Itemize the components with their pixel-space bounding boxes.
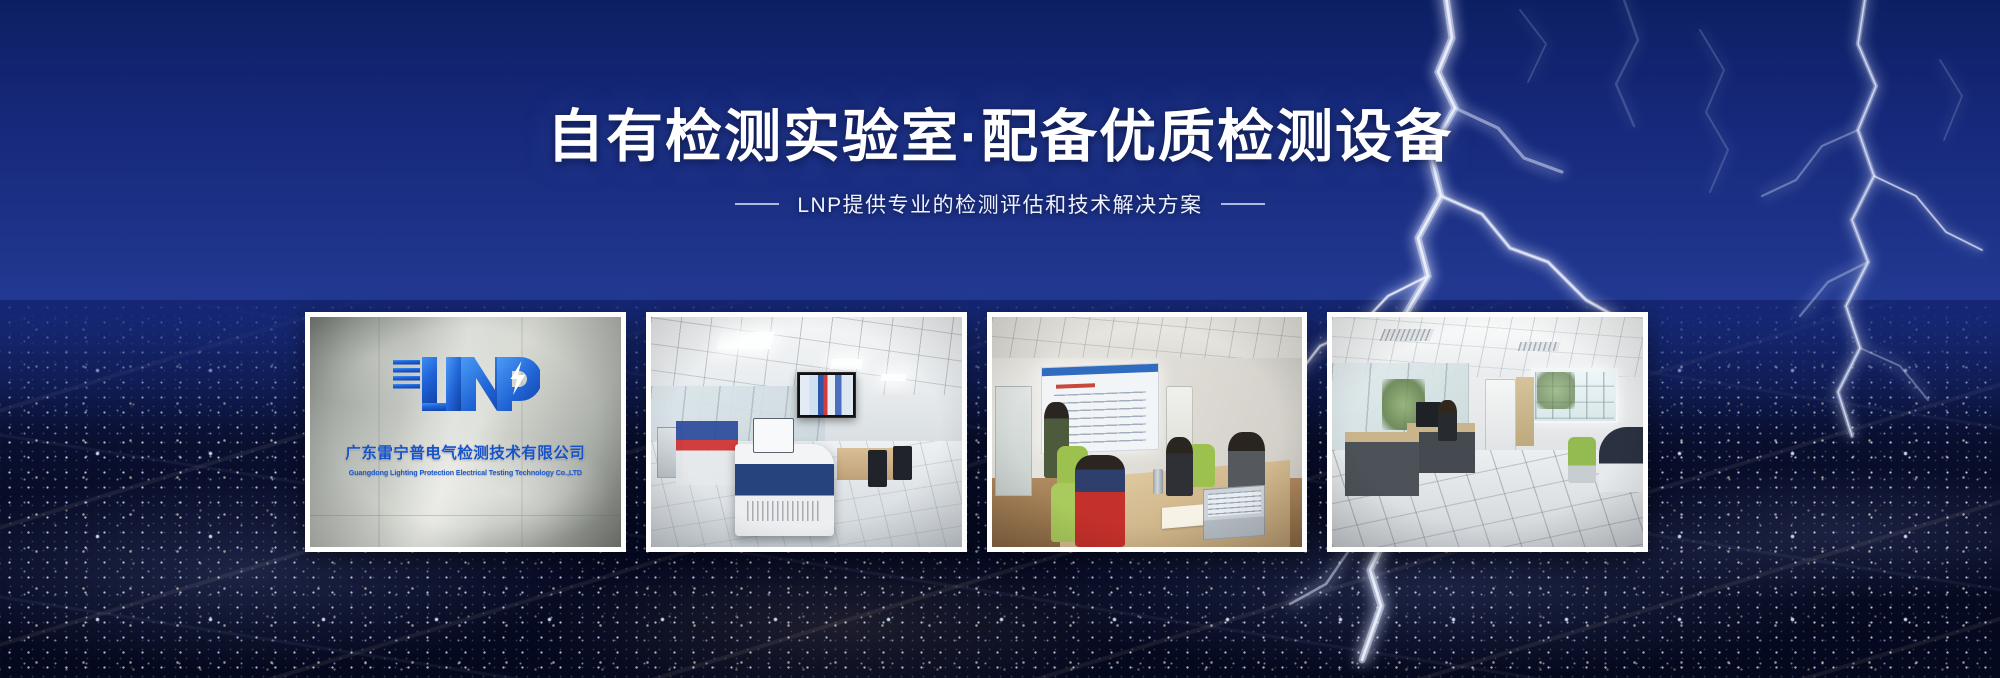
- rule-left-icon: [735, 203, 779, 205]
- office-cabinet: [1485, 379, 1516, 455]
- lab-monitor-content: [800, 375, 853, 415]
- reception-counter: [1599, 427, 1643, 491]
- lab-chair-1: [868, 450, 887, 487]
- lab-console-monitor: [753, 418, 793, 453]
- lab-wall-monitor: [797, 372, 856, 418]
- photo-testing-laboratory: [651, 317, 962, 547]
- gallery-card-laboratory[interactable]: [646, 312, 967, 552]
- hero-banner: 自有检测实验室·配备优质检测设备 LNP提供专业的检测评估和技术解决方案: [0, 0, 2000, 678]
- photo-gallery: 广东雷宁普电气检测技术有限公司 Guangdong Lighting Prote…: [305, 312, 1648, 552]
- gallery-card-office[interactable]: [1327, 312, 1648, 552]
- slide-heading: [1056, 384, 1095, 390]
- meeting-documents: [1162, 504, 1206, 528]
- gallery-card-company-sign[interactable]: 广东雷宁普电气检测技术有限公司 Guangdong Lighting Prote…: [305, 312, 626, 552]
- lab-ceiling-light-2: [830, 359, 863, 369]
- meeting-thermos: [1153, 469, 1163, 494]
- slide-titlebar: [1042, 364, 1158, 376]
- laptop-screen: [1207, 490, 1260, 517]
- page-subtitle: LNP提供专业的检测评估和技术解决方案: [797, 189, 1202, 219]
- page-title: 自有检测实验室·配备优质检测设备: [0, 104, 2000, 171]
- office-desk-front: [1345, 432, 1420, 496]
- outdoor-foliage-right: [1537, 372, 1574, 409]
- lab-console-vents: [747, 501, 821, 521]
- headline-block: 自有检测实验室·配备优质检测设备 LNP提供专业的检测评估和技术解决方案: [0, 104, 2000, 219]
- subtitle-row: LNP提供专业的检测评估和技术解决方案: [0, 189, 2000, 219]
- meeting-ceiling-grid: [992, 317, 1303, 363]
- lab-room: [651, 317, 962, 547]
- office-shelf: [1516, 377, 1535, 446]
- attendee-foreground: [1075, 455, 1125, 547]
- attendee-center: [1166, 437, 1194, 497]
- meeting-door: [995, 386, 1032, 496]
- lab-control-console: [735, 444, 834, 536]
- sign-company-name-en: Guangdong Lighting Protection Electrical…: [310, 468, 621, 477]
- office-worker: [1438, 400, 1457, 441]
- photo-company-sign: 广东雷宁普电气检测技术有限公司 Guangdong Lighting Prote…: [310, 317, 621, 547]
- lab-ceiling-light-3: [880, 374, 906, 381]
- office-room: [1332, 317, 1643, 547]
- lab-chair-2: [893, 446, 912, 481]
- lab-test-equipment: [676, 421, 738, 485]
- photo-office-area: [1332, 317, 1643, 547]
- office-ceiling-vent-1: [1380, 329, 1434, 341]
- rule-right-icon: [1221, 203, 1265, 205]
- office-visitor-chair: [1568, 437, 1596, 483]
- meeting-laptop: [1203, 485, 1265, 540]
- lnp-logo-icon: [390, 347, 540, 425]
- sign-company-name-cn: 广东雷宁普电气检测技术有限公司: [310, 441, 621, 463]
- lab-ceiling-light-1: [717, 332, 774, 349]
- meeting-ceiling: [992, 317, 1303, 363]
- meeting-room: [992, 317, 1303, 547]
- gallery-card-meeting-room[interactable]: [987, 312, 1308, 552]
- office-ceiling-vent-2: [1517, 342, 1560, 351]
- photo-meeting-room: [992, 317, 1303, 547]
